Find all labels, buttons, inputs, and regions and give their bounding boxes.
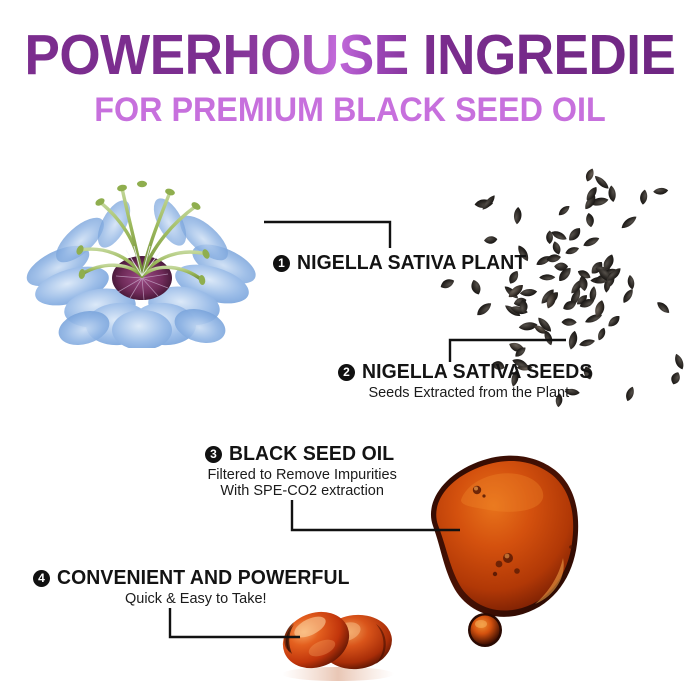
seed: [578, 338, 595, 348]
seed: [566, 226, 583, 244]
seed: [585, 212, 594, 227]
seed: [475, 300, 494, 317]
seed: [669, 371, 682, 386]
callout-2-badge: 2: [338, 364, 355, 381]
seed: [619, 214, 638, 230]
seed: [621, 287, 636, 304]
oil-droplet: [468, 613, 502, 647]
seed: [606, 314, 622, 329]
seed: [513, 207, 522, 225]
softgel-capsules-image: [268, 598, 408, 684]
seed: [546, 253, 562, 263]
seed: [639, 189, 648, 205]
callout-3-badge: 3: [205, 446, 222, 463]
callout-4-badge: 4: [33, 570, 50, 587]
callout-1-headline-row: 1 NIGELLA SATIVA PLANT: [273, 253, 533, 274]
callout-3-headline: BLACK SEED OIL: [229, 444, 394, 465]
callout-4: 4 CONVENIENT AND POWERFUL Quick & Easy t…: [33, 568, 359, 607]
callout-2-sublines: Seeds Extracted from the Plant: [338, 385, 600, 401]
callout-4-headline-row: 4 CONVENIENT AND POWERFUL: [33, 568, 359, 589]
page-title: POWERHOUSE INGREDIENTS: [25, 26, 676, 84]
callout-1-headline: NIGELLA SATIVA PLANT: [297, 253, 526, 274]
callout-2-headline: NIGELLA SATIVA SEEDS: [362, 362, 592, 383]
capsule-shadow: [282, 667, 394, 681]
callout-3-subline-1: Filtered to Remove Impurities: [205, 467, 399, 483]
seed: [608, 185, 617, 202]
seed: [440, 277, 456, 290]
seed: [627, 274, 635, 289]
seed: [624, 385, 636, 402]
seed: [655, 300, 671, 316]
callout-4-subline-1: Quick & Easy to Take!: [33, 591, 359, 607]
callout-4-sublines: Quick & Easy to Take!: [33, 591, 359, 607]
callout-3-sublines: Filtered to Remove Impurities With SPE-C…: [205, 467, 399, 499]
nigella-sativa-flower-image: [18, 158, 266, 348]
seed: [584, 167, 596, 182]
callout-1: 1 NIGELLA SATIVA PLANT: [273, 253, 533, 274]
seed: [673, 353, 685, 371]
infographic-canvas: POWERHOUSE INGREDIENTS FOR PREMIUM BLACK…: [0, 0, 700, 700]
seed: [561, 318, 577, 326]
callout-4-headline: CONVENIENT AND POWERFUL: [57, 568, 350, 589]
callout-3-headline-row: 3 BLACK SEED OIL: [205, 444, 399, 465]
callout-2-subline-1: Seeds Extracted from the Plant: [338, 385, 600, 401]
seed: [653, 187, 668, 195]
callout-2-headline-row: 2 NIGELLA SATIVA SEEDS: [338, 362, 600, 383]
seed: [539, 274, 555, 280]
callout-2: 2 NIGELLA SATIVA SEEDS Seeds Extracted f…: [338, 362, 600, 401]
connector-line-1: [264, 222, 390, 248]
callout-1-badge: 1: [273, 255, 290, 272]
seed: [564, 245, 580, 255]
page-subtitle: FOR PREMIUM BLACK SEED OIL: [18, 92, 683, 128]
seed: [551, 240, 562, 255]
seed: [484, 236, 498, 244]
seed: [596, 327, 607, 342]
seed: [567, 330, 579, 350]
callout-3: 3 BLACK SEED OIL Filtered to Remove Impu…: [205, 444, 399, 499]
seed: [582, 235, 601, 248]
black-seed-oil-image: [395, 408, 635, 648]
seed: [470, 279, 483, 296]
seed: [557, 204, 572, 217]
seed: [520, 288, 538, 297]
callout-3-subline-2: With SPE-CO2 extraction: [205, 483, 399, 499]
